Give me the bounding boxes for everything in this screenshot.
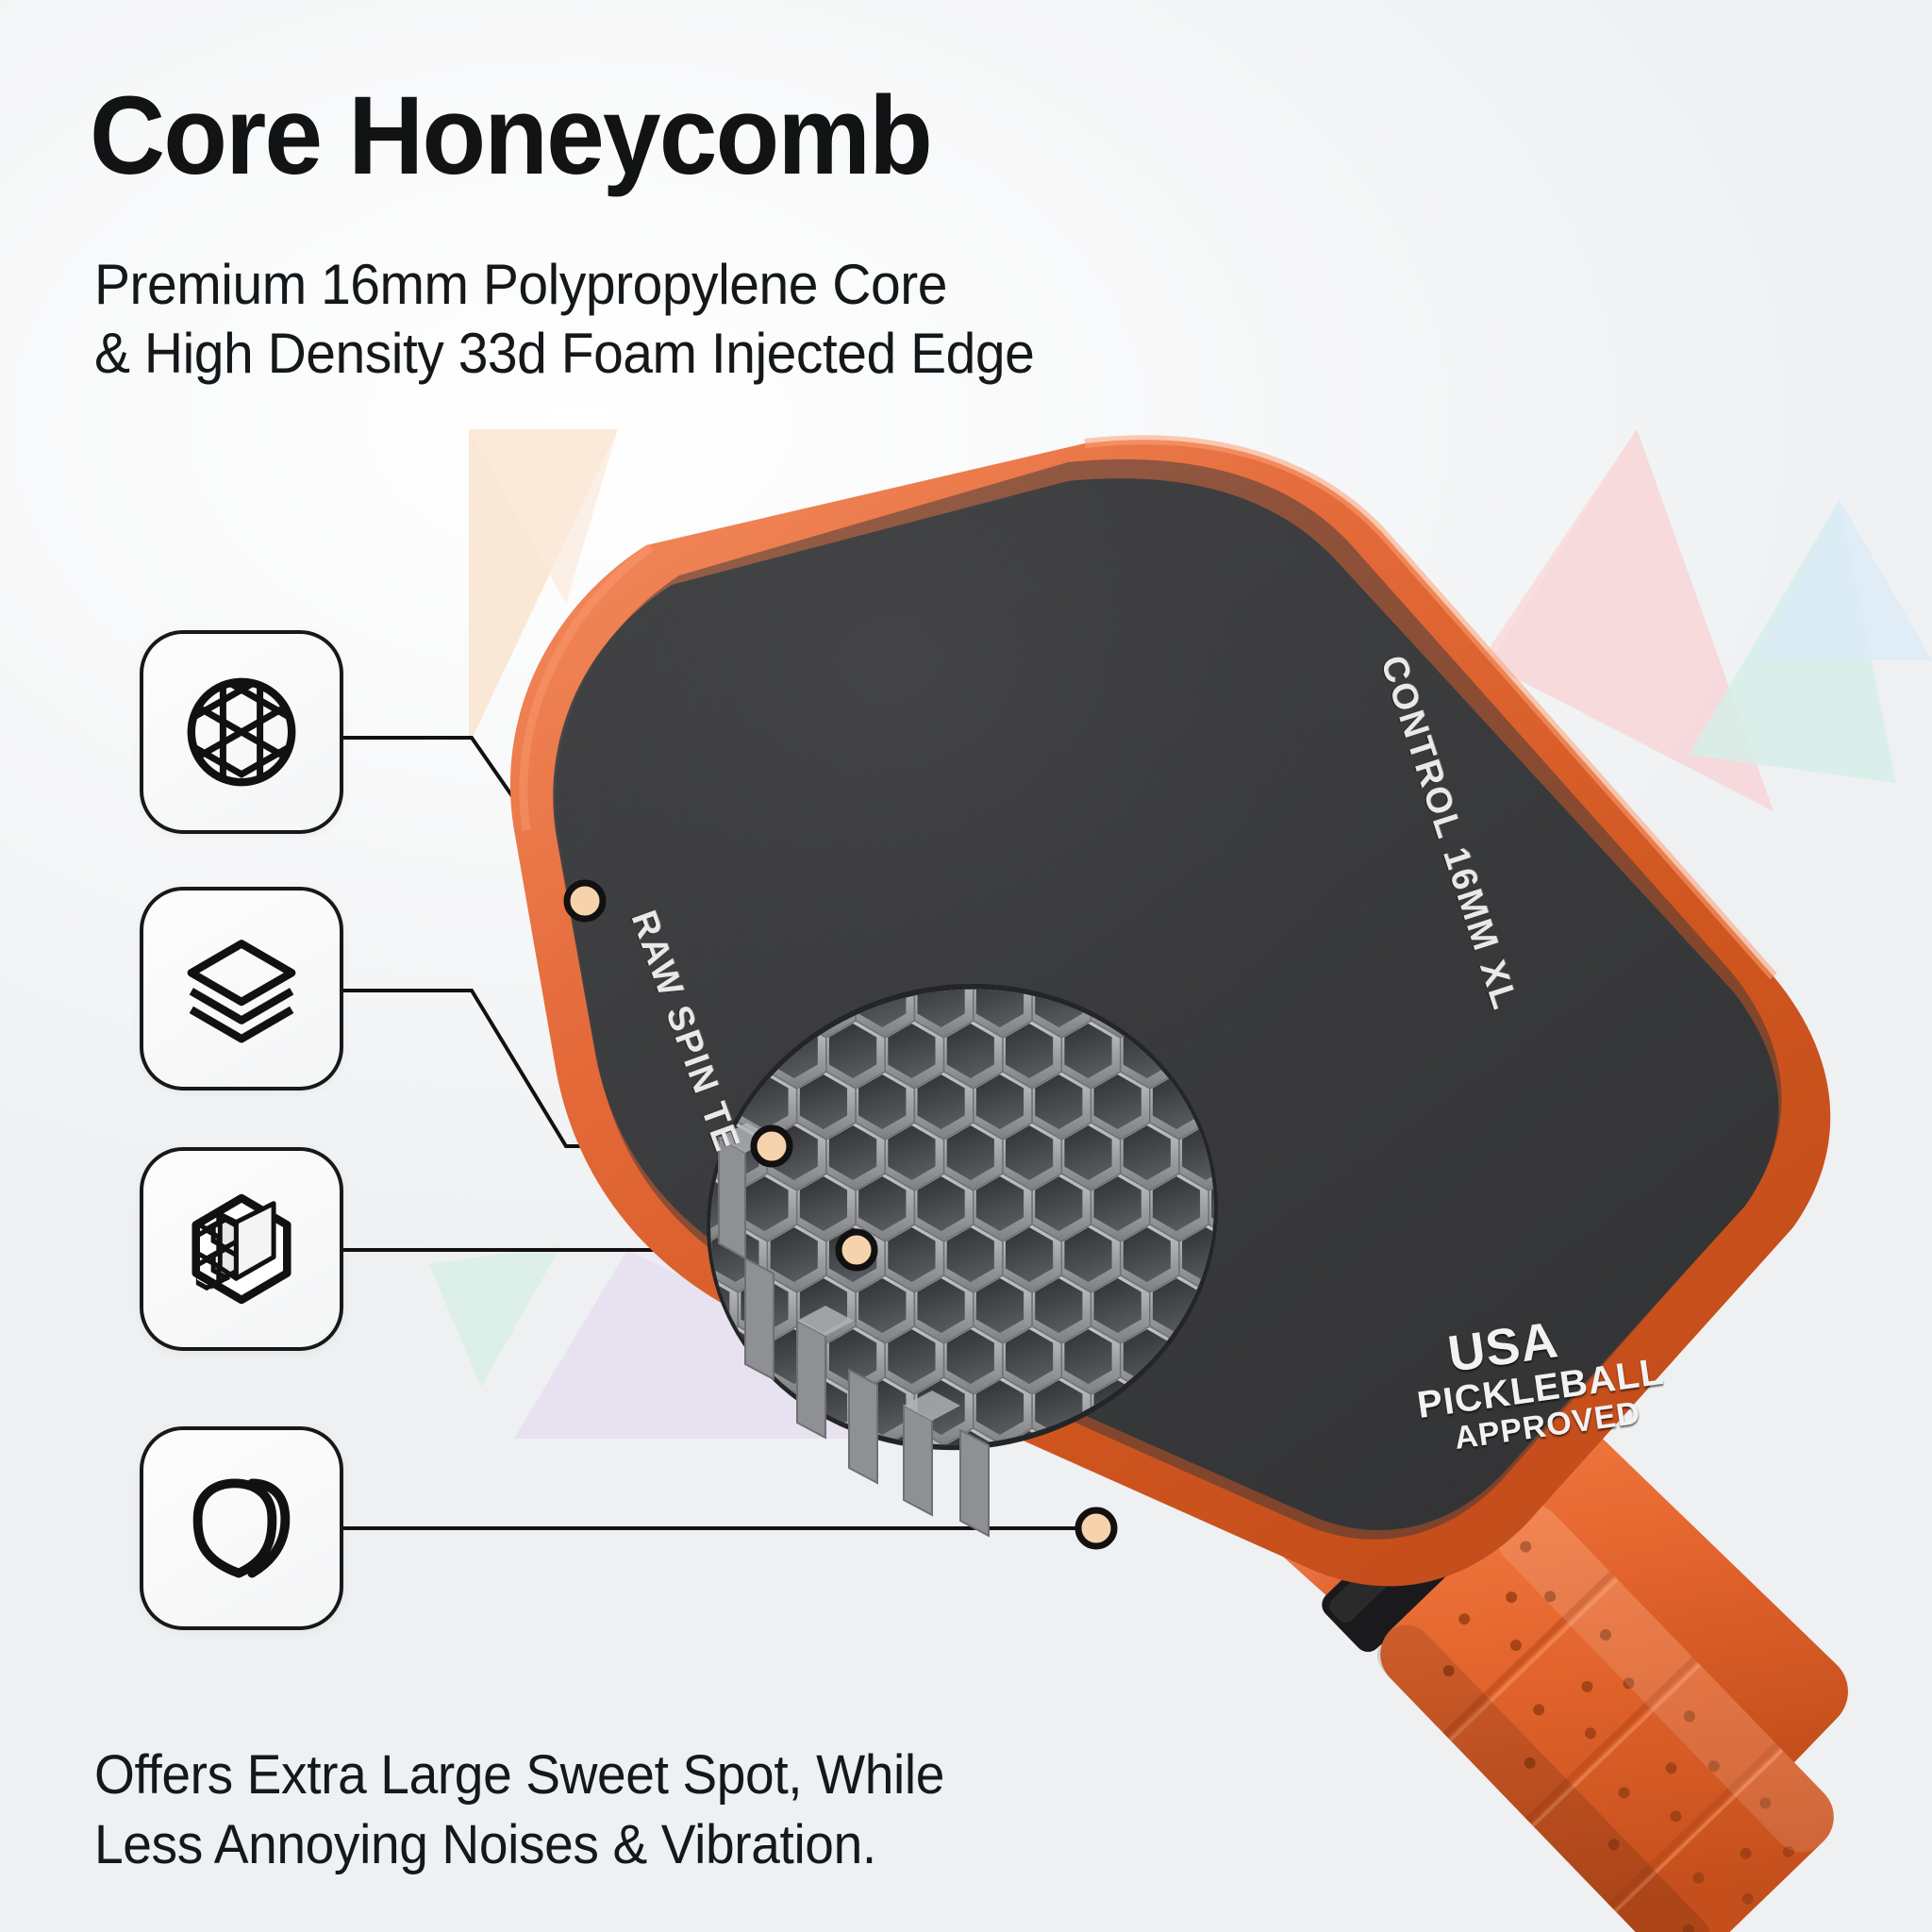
pickleball-paddle [0, 0, 1932, 1932]
infographic-canvas: Core Honeycomb Premium 16mm Polypropylen… [0, 0, 1932, 1932]
callout-dot-4 [1078, 1510, 1114, 1546]
callout-dot-2 [754, 1128, 790, 1164]
footnote-line-2: Less Annoying Noises & Vibration. [94, 1810, 944, 1880]
callout-dot-1 [567, 883, 603, 919]
footnote-line-1: Offers Extra Large Sweet Spot, While [94, 1740, 944, 1810]
callout-dot-3 [839, 1232, 874, 1268]
page-footnote: Offers Extra Large Sweet Spot, While Les… [94, 1740, 944, 1879]
